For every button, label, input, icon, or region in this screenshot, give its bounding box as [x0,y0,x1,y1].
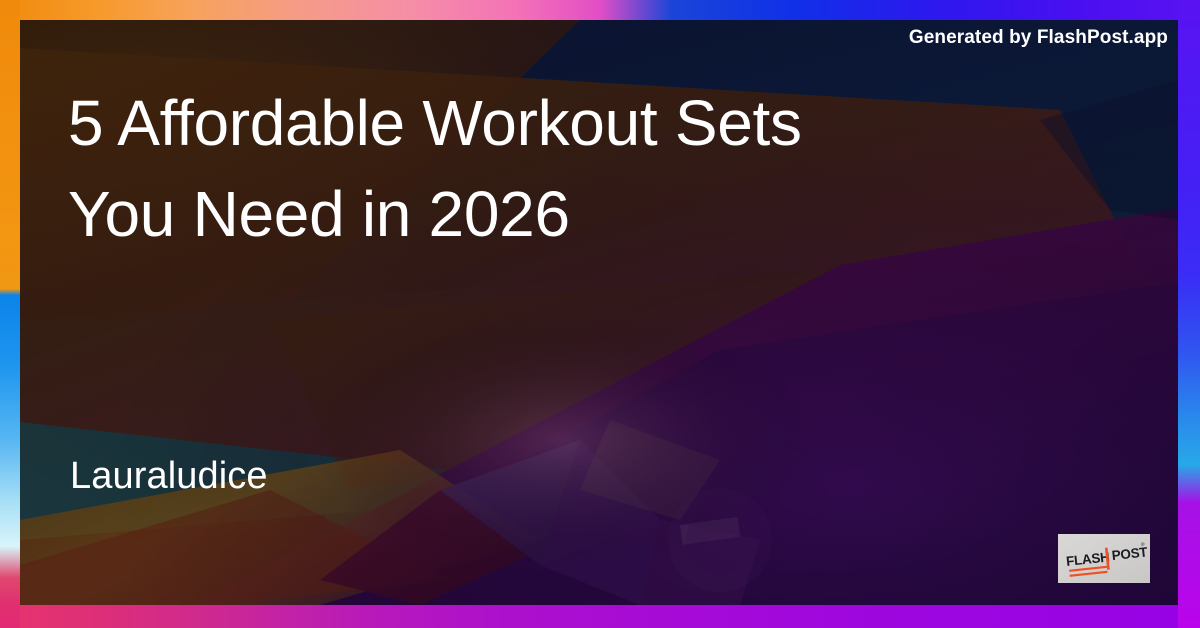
frame-edge-right [1178,0,1200,628]
logo-accent-line-2 [1070,571,1108,577]
flashpost-logo[interactable]: FLASH POST ® [1058,534,1150,583]
attribution-label: Generated by FlashPost.app [909,27,1168,49]
page-title: 5 Affordable Workout Sets You Need in 20… [68,78,1068,260]
frame-edge-left [0,0,20,628]
logo-trademark-icon: ® [1140,541,1145,548]
frame-edge-top [0,0,1200,20]
author-name: Lauraludice [70,455,268,498]
frame-edge-bottom [0,605,1200,628]
logo-text-flash: FLASH [1065,549,1110,568]
social-share-card: Generated by FlashPost.app 5 Affordable … [0,0,1200,628]
